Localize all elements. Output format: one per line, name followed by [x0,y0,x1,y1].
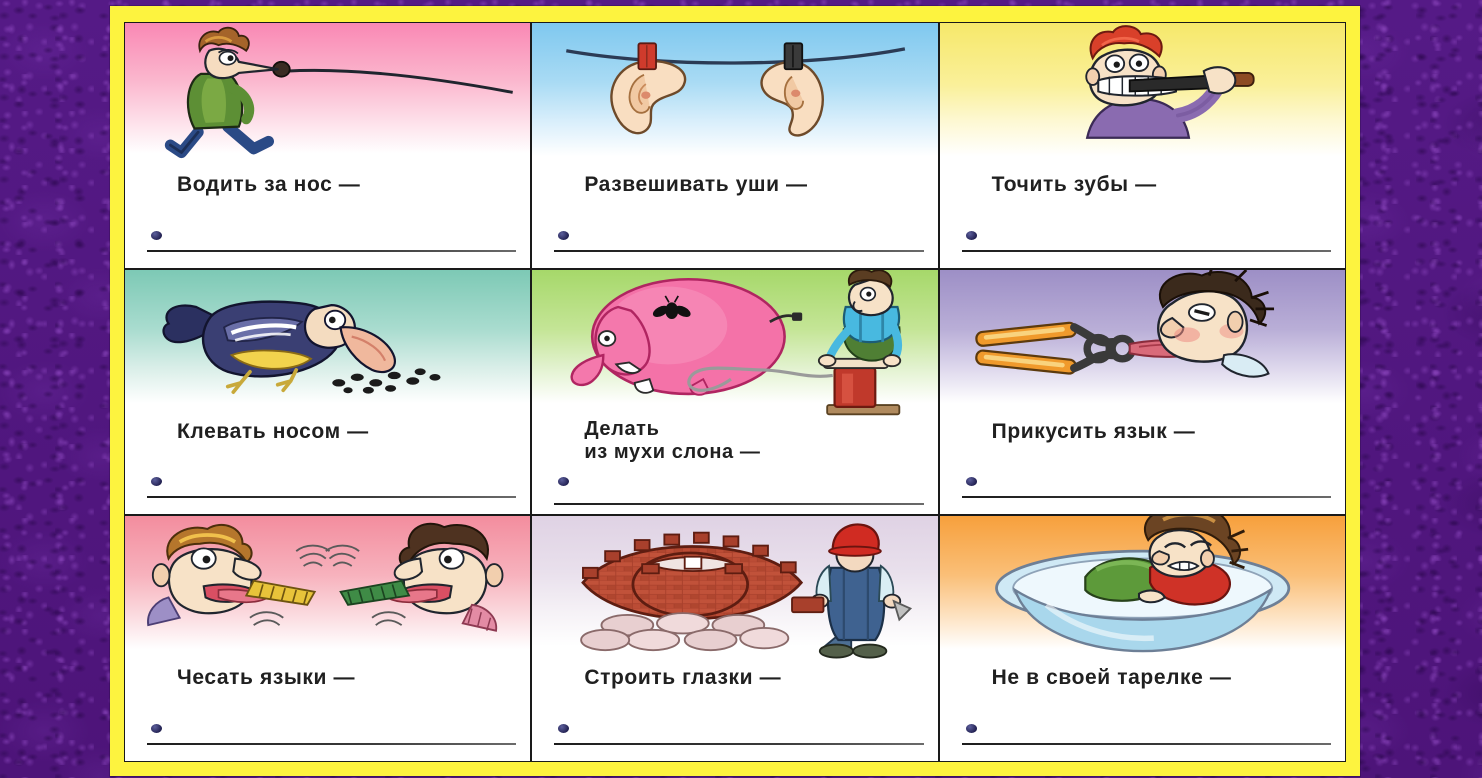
idiom-caption: Чесать языки — [125,664,530,691]
idiom-card-tochit-zuby[interactable]: Точить зубы — [939,22,1346,269]
idiom-card-ne-v-svoey-tarelke[interactable]: Не в своей тарелке — [939,515,1346,762]
bullet-dot [151,724,162,733]
boy-sharpening-teeth-illustration [940,23,1345,171]
boy-in-plate-illustration [940,516,1345,664]
idiom-caption: Точить зубы — [940,171,1345,198]
boy-led-by-nose-illustration [125,23,530,171]
idiom-card-klevat-nosom[interactable]: Клевать носом — [124,269,531,516]
tongue-in-pliers-illustration [940,270,1345,418]
answer-line [147,743,516,745]
idiom-caption: Строить глазки — [532,664,937,691]
idiom-card-chesat-yazyki[interactable]: Чесать языки — [124,515,531,762]
idiom-caption: Прикусить язык — [940,418,1345,445]
idiom-card-grid: Водить за нос — [124,22,1346,762]
ears-on-clothesline-illustration [532,23,937,171]
idiom-caption: Делать из мухи слона — [532,418,937,465]
two-heads-scratching-tongues-illustration [125,516,530,664]
bullet-dot [558,231,569,240]
idiom-card-razveshivat-ushi[interactable]: Развешивать уши — [531,22,938,269]
idiom-caption: Водить за нос — [125,171,530,198]
brick-eye-builder-illustration [532,516,937,664]
idiom-card-stroit-glazki[interactable]: Строить глазки — [531,515,938,762]
elephant-from-fly-pump-illustration [532,270,937,418]
answer-line [147,496,516,498]
bullet-dot [966,477,977,486]
bullet-dot [558,477,569,486]
crow-pecking-illustration [125,270,530,418]
answer-line [962,743,1331,745]
answer-line [962,250,1331,252]
bullet-dot [966,231,977,240]
idiom-caption: Развешивать уши — [532,171,937,198]
answer-line [147,250,516,252]
bullet-dot [151,477,162,486]
bullet-dot [151,231,162,240]
idiom-caption: Не в своей тарелке — [940,664,1345,691]
idiom-card-vodit-za-nos[interactable]: Водить за нос — [124,22,531,269]
bullet-dot [966,724,977,733]
bullet-dot [558,724,569,733]
idiom-card-delat-iz-muhi-slona[interactable]: Делать из мухи слона — [531,269,938,516]
idiom-card-prikusit-yazyk[interactable]: Прикусить язык — [939,269,1346,516]
answer-line [554,250,923,252]
idiom-caption: Клевать носом — [125,418,530,445]
answer-line [554,743,923,745]
answer-line [962,496,1331,498]
answer-line [554,503,923,505]
